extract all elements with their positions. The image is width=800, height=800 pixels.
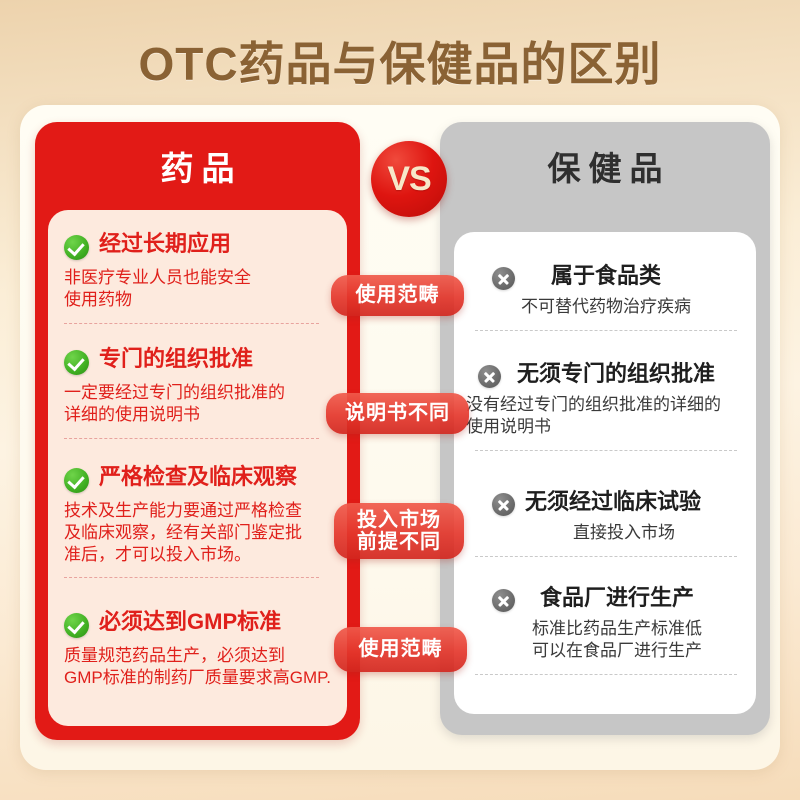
right-item-divider <box>475 556 737 557</box>
center-pill-2[interactable]: 说明书不同 <box>326 393 469 434</box>
left-list-item-1: 经过长期应用 非医疗专业人员也能安全 使用药物 <box>64 232 330 324</box>
left-item-title: 专门的组织批准 <box>99 347 253 371</box>
left-list-item-3: 严格检查及临床观察 技术及生产能力要通过严格检查 及临床观察，经有关部门鉴定批 … <box>64 465 349 578</box>
left-item-divider <box>64 323 319 324</box>
check-circle-icon <box>64 350 89 375</box>
left-item-title: 必须达到GMP标准 <box>99 610 281 634</box>
check-circle-icon <box>64 613 89 638</box>
x-circle-icon <box>478 365 501 388</box>
check-circle-icon <box>64 468 89 493</box>
right-item-divider <box>475 450 737 451</box>
x-circle-icon <box>492 589 515 612</box>
page-title: OTC药品与保健品的区别 <box>0 28 800 94</box>
right-panel-body: 属于食品类 不可替代药物治疗疾病 无须专门的组织批准 没有经过专门的组织批准的详… <box>454 232 756 714</box>
right-list-item-2: 无须专门的组织批准 没有经过专门的组织批准的详细的 使用说明书 <box>470 360 742 451</box>
center-pill-label: 使用范畴 <box>356 284 440 306</box>
infographic-stage: OTC药品与保健品的区别 药品 经过长期应用 非医疗专业人员也能安全 使用药物 … <box>0 0 800 800</box>
right-panel-header: 保健品 <box>440 122 770 210</box>
right-item-divider <box>475 674 737 675</box>
vs-badge: VS <box>371 141 447 217</box>
right-item-desc: 不可替代药物治疗疾病 <box>470 296 742 318</box>
left-item-desc: 一定要经过专门的组织批准的 详细的使用说明书 <box>64 382 344 426</box>
left-item-desc: 技术及生产能力要通过严格检查 及临床观察，经有关部门鉴定批 准后，才可以投入市场… <box>64 500 349 565</box>
center-pill-3[interactable]: 投入市场 前提不同 <box>334 503 464 559</box>
center-pill-label: 投入市场 前提不同 <box>357 509 441 554</box>
left-item-divider <box>64 438 319 439</box>
center-pill-label: 使用范畴 <box>359 638 443 660</box>
left-item-title: 经过长期应用 <box>99 232 231 256</box>
left-list-item-2: 专门的组织批准 一定要经过专门的组织批准的 详细的使用说明书 <box>64 347 344 439</box>
right-item-divider <box>475 330 737 331</box>
x-circle-icon <box>492 267 515 290</box>
left-panel-medicine: 药品 经过长期应用 非医疗专业人员也能安全 使用药物 专门的组织批准 一定要经过… <box>35 122 360 740</box>
right-item-title: 无须专门的组织批准 <box>470 362 742 386</box>
right-item-desc: 没有经过专门的组织批准的详细的 使用说明书 <box>466 394 742 438</box>
left-item-title: 严格检查及临床观察 <box>99 465 297 489</box>
center-pill-4[interactable]: 使用范畴 <box>334 627 467 672</box>
vs-label: VS <box>387 160 430 199</box>
right-list-item-4: 食品厂进行生产 标准比药品生产标准低 可以在食品厂进行生产 <box>470 584 742 675</box>
left-panel-body: 经过长期应用 非医疗专业人员也能安全 使用药物 专门的组织批准 一定要经过专门的… <box>48 210 347 726</box>
right-list-item-3: 无须经过临床试验 直接投入市场 <box>470 488 742 557</box>
x-circle-icon <box>492 493 515 516</box>
center-pill-label: 说明书不同 <box>345 402 450 424</box>
right-item-desc: 直接投入市场 <box>470 522 742 544</box>
right-list-item-1: 属于食品类 不可替代药物治疗疾病 <box>470 262 742 331</box>
left-item-desc: 非医疗专业人员也能安全 使用药物 <box>64 267 330 311</box>
left-item-desc: 质量规范药品生产，必须达到 GMP标准的制药厂质量要求高GMP. <box>64 645 352 689</box>
left-list-item-4: 必须达到GMP标准 质量规范药品生产，必须达到 GMP标准的制药厂质量要求高GM… <box>64 610 352 689</box>
center-pill-1[interactable]: 使用范畴 <box>331 275 464 316</box>
right-panel-healthcare: 保健品 属于食品类 不可替代药物治疗疾病 无须专门的组织批准 没有经过专门的组织… <box>440 122 770 735</box>
check-circle-icon <box>64 235 89 260</box>
right-item-desc: 标准比药品生产标准低 可以在食品厂进行生产 <box>470 618 742 662</box>
left-item-divider <box>64 577 319 578</box>
left-panel-header: 药品 <box>35 122 360 210</box>
